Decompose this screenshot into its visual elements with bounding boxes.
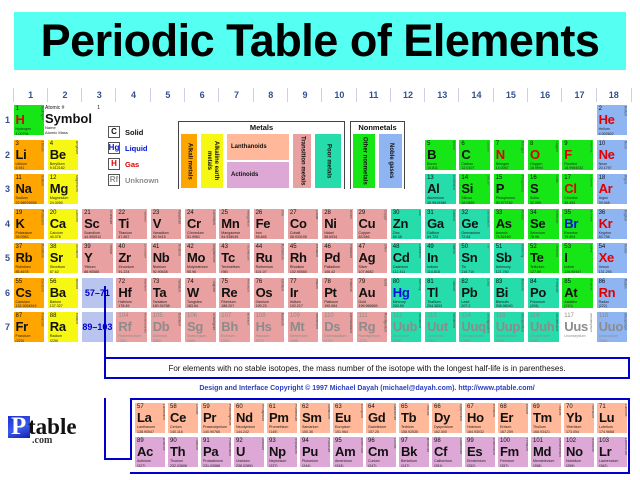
element-cell-cf[interactable]: 98CfCalifornium(251)Californium — [431, 436, 463, 468]
element-cell-br[interactable]: 35BrBromine79.904Bromine — [561, 208, 594, 240]
element-cell-np[interactable]: 93NpNeptunium(237)Neptunium — [266, 436, 298, 468]
element-atomic-number: 73 — [153, 279, 160, 285]
element-symbol: La — [137, 411, 152, 424]
legend-category-other-nonmetals[interactable]: Other nonmetals — [353, 134, 375, 188]
group-header-15: 15 — [493, 88, 528, 102]
element-name: Rhodium — [290, 265, 304, 269]
element-side-label: Gadolinium — [389, 404, 396, 434]
element-symbol: Ag — [359, 251, 376, 264]
element-name: Polonium — [530, 300, 545, 304]
element-cell-pa[interactable]: 91PaProtactinium231.03588Protactinium — [200, 436, 232, 468]
element-cell-uup[interactable]: 115UupUnunpentium(288)Ununpentium — [493, 311, 526, 343]
legend-category-label: Poor metals — [315, 134, 341, 188]
element-symbol: Ga — [427, 217, 444, 230]
element-atomic-mass: (237) — [269, 464, 277, 468]
legend-state-symbol-solid: C — [108, 126, 120, 138]
legend-state-label-liquid: Liquid — [125, 144, 148, 153]
element-cell-nd[interactable]: 60NdNeodymium144.242Neodymium — [233, 402, 265, 434]
legend-category-alkaline-earth-metals[interactable]: Alkaline earth metals — [201, 134, 223, 188]
element-side-label: Bromine — [585, 210, 592, 240]
element-cell-bk[interactable]: 97BkBerkelium(247)Berkelium — [398, 436, 430, 468]
element-side-label: Praseodymium — [224, 404, 231, 434]
element-name: Iron — [256, 231, 262, 235]
element-name: Cobalt — [290, 231, 300, 235]
element-side-label: Protactinium — [224, 438, 231, 468]
element-atomic-number: 9 — [564, 141, 567, 147]
element-cell-uuo[interactable]: 118UuoUnunoctium(294)Ununoctium — [596, 311, 629, 343]
element-symbol: Zn — [393, 217, 408, 230]
element-symbol: Nb — [153, 251, 170, 264]
element-cell-pd[interactable]: 46PdPalladium106.42Palladium — [321, 242, 354, 274]
element-side-label: Bohrium — [242, 313, 249, 343]
legend-state-liquid: HgLiquid — [108, 142, 148, 154]
element-atomic-mass: (262) — [599, 464, 607, 468]
element-symbol: Eu — [335, 411, 351, 424]
element-name: Carbon — [461, 162, 473, 166]
element-cell-ce[interactable]: 58CeCerium140.116Cerium — [167, 402, 199, 434]
legend-state-unknown: RfUnknown — [108, 174, 159, 186]
legend-category-alkali-metals[interactable]: Alkali metals — [181, 134, 197, 188]
element-symbol: Ge — [461, 217, 478, 230]
element-cell-fr[interactable]: 87FrFrancium(223)Francium — [13, 311, 46, 343]
element-symbol: Sg — [187, 320, 203, 333]
element-cell-ne[interactable]: 10NeNeon20.1797Neon — [596, 139, 629, 171]
element-cell-sc[interactable]: 21ScScandium44.955912Scandium — [81, 208, 114, 240]
element-symbol: Mo — [187, 251, 205, 264]
element-cell-he[interactable]: 2HeHelium4.002602Helium — [596, 104, 629, 136]
element-name: Nitrogen — [496, 162, 510, 166]
element-cell-uuh[interactable]: 116UuhUnunhexium(292)Ununhexium — [527, 311, 560, 343]
element-cell-uub[interactable]: 112UubUnunbium(285)Ununbium — [390, 311, 423, 343]
element-cell-as[interactable]: 33AsArsenic74.92160Arsenic — [493, 208, 526, 240]
element-cell-cu[interactable]: 29CuCopper63.546Copper — [356, 208, 389, 240]
element-cell-no[interactable]: 102NoNobelium(259)Nobelium — [563, 436, 595, 468]
element-cell-rb[interactable]: 37RbRubidium85.4678Rubidium — [13, 242, 46, 274]
element-name: Silver — [359, 265, 368, 269]
element-cell-o[interactable]: 8OOxygen15.9994Oxygen — [527, 139, 560, 171]
element-cell-pu[interactable]: 94PuPlutonium(244)Plutonium — [299, 436, 331, 468]
element-atomic-mass: 83.798 — [599, 235, 610, 239]
element-cell-pb[interactable]: 82PbLead207.2Lead — [458, 277, 491, 309]
element-atomic-number: 34 — [530, 210, 537, 216]
element-cell-k[interactable]: 19KPotassium39.0983Potassium — [13, 208, 46, 240]
element-side-label: Copper — [380, 210, 387, 240]
element-atomic-mass: (145) — [269, 430, 277, 434]
element-cell-th[interactable]: 90ThThorium232.03806Thorium — [167, 436, 199, 468]
element-symbol: Ta — [153, 286, 167, 299]
element-cell-ar[interactable]: 18ArArgon39.948Argon — [596, 173, 629, 205]
legend-category-lanthanoids[interactable]: Lanthanoids — [227, 134, 289, 160]
element-cell-se[interactable]: 34SeSelenium78.96Selenium — [527, 208, 560, 240]
element-cell-gd[interactable]: 64GdGadolinium157.25Gadolinium — [365, 402, 397, 434]
element-cell-re[interactable]: 75ReRhenium186.207Rhenium — [218, 277, 251, 309]
element-side-label: Niobium — [174, 244, 181, 274]
element-symbol: Se — [530, 217, 545, 230]
element-cell-cm[interactable]: 96CmCurium(247)Curium — [365, 436, 397, 468]
element-side-label: Chromium — [208, 210, 215, 240]
element-cell-na[interactable]: 11NaSodium22.98976928Sodium — [13, 173, 46, 205]
element-cell-pm[interactable]: 61PmPromethium(145)Promethium — [266, 402, 298, 434]
element-symbol: Lu — [599, 411, 614, 424]
element-atomic-mass: 208.98040 — [496, 304, 513, 308]
element-cell-s[interactable]: 16SSulfur32.065Sulfur — [527, 173, 560, 205]
element-symbol: Ti — [118, 217, 129, 230]
element-atomic-mass: (252) — [467, 464, 475, 468]
legend-state-label-gas: Gas — [125, 160, 139, 169]
element-side-label: Zirconium — [139, 244, 146, 274]
element-cell-sm[interactable]: 62SmSamarium150.36Samarium — [299, 402, 331, 434]
element-name: Xenon — [599, 265, 609, 269]
element-cell-es[interactable]: 99EsEinsteinium(252)Einsteinium — [464, 436, 496, 468]
element-cell-zn[interactable]: 30ZnZinc65.38Zinc — [390, 208, 423, 240]
element-side-label: Thallium — [448, 279, 455, 309]
element-cell-mn[interactable]: 25MnManganese54.938045Manganese — [218, 208, 251, 240]
element-cell-ir[interactable]: 77IrIridium192.217Iridium — [287, 277, 320, 309]
element-cell-kr[interactable]: 36KrKrypton83.798Krypton — [596, 208, 629, 240]
element-cell-au[interactable]: 79AuGold196.966569Gold — [356, 277, 389, 309]
legend-category-poor-metals[interactable]: Poor metals — [315, 134, 341, 188]
element-atomic-number: 31 — [427, 210, 434, 216]
element-cell-lr[interactable]: 103LrLawrencium(262)Lawrencium — [596, 436, 628, 468]
element-cell-y[interactable]: 39YYttrium88.90585Yttrium — [81, 242, 114, 274]
element-name: Antimony — [496, 265, 511, 269]
element-atomic-mass: 192.217 — [290, 304, 303, 308]
element-cell-ta[interactable]: 73TaTantalum180.94788Tantalum — [150, 277, 183, 309]
group-header-3: 3 — [81, 88, 116, 102]
element-name: Silicon — [461, 196, 472, 200]
element-name: Berkelium — [401, 459, 417, 463]
element-cell-uuq[interactable]: 114UuqUnunquadium(289)Ununquadium — [458, 311, 491, 343]
element-atomic-mass: (277) — [256, 339, 264, 343]
element-cell-tm[interactable]: 69TmThulium168.93421Thulium — [530, 402, 562, 434]
element-atomic-mass: 158.92535 — [401, 430, 418, 434]
element-cell-si[interactable]: 14SiSilicon28.0855Silicon — [458, 173, 491, 205]
element-cell-sn[interactable]: 50SnTin118.710Tin — [458, 242, 491, 274]
element-cell-yb[interactable]: 70YbYtterbium173.054Ytterbium — [563, 402, 595, 434]
element-atomic-number: 79 — [359, 279, 366, 285]
element-cell-mo[interactable]: 42MoMolybdenum95.96Molybdenum — [184, 242, 217, 274]
legend-category-label: Alkali metals — [181, 134, 197, 188]
element-name: Actinium — [137, 459, 151, 463]
element-cell-ge[interactable]: 32GeGermanium72.64Germanium — [458, 208, 491, 240]
element-name: Manganese — [221, 231, 240, 235]
element-side-label: Neon — [620, 141, 627, 171]
element-symbol: Fr — [16, 320, 28, 333]
element-cell-rg[interactable]: 111RgRoentgenium(272)Roentgenium — [356, 311, 389, 343]
element-side-label: Gallium — [448, 210, 455, 240]
element-name: Bohrium — [221, 334, 234, 338]
element-side-label: Hydrogen — [37, 106, 44, 136]
element-name: Iodine — [564, 265, 574, 269]
element-cell-rh[interactable]: 45RhRhodium102.90550Rhodium — [287, 242, 320, 274]
element-name: Bromine — [564, 231, 577, 235]
element-cell-w[interactable]: 74WTungsten183.84Tungsten — [184, 277, 217, 309]
element-symbol: Pd — [324, 251, 340, 264]
element-cell-ag[interactable]: 47AgSilver107.8682Silver — [356, 242, 389, 274]
element-cell-ac[interactable]: 89AcActinium(227)Actinium — [134, 436, 166, 468]
element-side-label: Rutherfordium — [139, 313, 146, 343]
element-cell-xe[interactable]: 54XeXenon131.293Xenon — [596, 242, 629, 274]
element-cell-n[interactable]: 7NNitrogen14.0067Nitrogen — [493, 139, 526, 171]
element-cell-la[interactable]: 57LaLanthanum138.90547Lanthanum — [134, 402, 166, 434]
element-cell-db[interactable]: 105DbDubnium(262)Dubnium — [150, 311, 183, 343]
element-cell-uut[interactable]: 113UutUnuntrium(284)Ununtrium — [424, 311, 457, 343]
element-cell-h[interactable]: 1HHydrogen1.00794Hydrogen — [13, 104, 46, 136]
element-atomic-mass: 183.84 — [187, 304, 198, 308]
element-cell-ds[interactable]: 110DsDarmstadtium(271)Darmstadtium — [321, 311, 354, 343]
element-name: Boron — [427, 162, 437, 166]
element-name: Palladium — [324, 265, 340, 269]
element-name: Beryllium — [50, 162, 65, 166]
element-atomic-mass: (262) — [153, 339, 161, 343]
element-symbol: Si — [461, 182, 473, 195]
element-symbol: Hf — [118, 286, 131, 299]
element-atomic-mass: 101.07 — [256, 270, 267, 274]
element-atomic-mass: (247) — [368, 464, 376, 468]
element-cell-eu[interactable]: 63EuEuropium151.964Europium — [332, 402, 364, 434]
element-cell-c[interactable]: 6CCarbon12.0107Carbon — [458, 139, 491, 171]
element-name: Aluminium — [427, 196, 444, 200]
element-cell-dy[interactable]: 66DyDysprosium162.500Dysprosium — [431, 402, 463, 434]
element-name: Europium — [335, 425, 350, 429]
element-name: Thallium — [427, 300, 441, 304]
element-cell-tc[interactable]: 43TcTechnetium(98)Technetium — [218, 242, 251, 274]
element-name: Neptunium — [269, 459, 286, 463]
placeholder-lanthanoid-range[interactable]: 57–71 — [81, 277, 114, 309]
element-name: Lawrencium — [599, 459, 618, 463]
element-atomic-number: 5 — [427, 141, 430, 147]
element-atomic-mass: 91.224 — [118, 270, 129, 274]
element-side-label: Aluminium — [448, 175, 455, 205]
element-cell-ru[interactable]: 44RuRuthenium101.07Ruthenium — [253, 242, 286, 274]
element-side-label: Selenium — [551, 210, 558, 240]
element-atomic-mass: 232.03806 — [170, 464, 187, 468]
element-atomic-mass: 180.94788 — [153, 304, 170, 308]
element-symbol: Nd — [236, 411, 253, 424]
element-cell-cs[interactable]: 55CsCaesium132.9054519Caesium — [13, 277, 46, 309]
element-symbol: Mg — [50, 182, 68, 195]
element-atomic-mass: 200.59 — [393, 304, 404, 308]
element-cell-b[interactable]: 5BBoron10.811Boron — [424, 139, 457, 171]
element-symbol: Ba — [50, 286, 66, 299]
element-symbol: Cu — [359, 217, 376, 230]
logo-p-letter: P — [11, 414, 26, 439]
element-symbol: Kr — [599, 217, 613, 230]
element-symbol: He — [599, 113, 615, 126]
footnote-box: For elements with no stable isotopes, th… — [104, 357, 630, 379]
period-label-3: 3 — [2, 184, 13, 194]
element-name: Gold — [359, 300, 367, 304]
legend-category-noble-gases[interactable]: Noble gases — [379, 134, 402, 188]
element-cell-po[interactable]: 84PoPolonium(209)Polonium — [527, 277, 560, 309]
element-cell-hf[interactable]: 72HfHafnium178.49Hafnium — [115, 277, 148, 309]
legend-metals-border-left — [178, 133, 179, 189]
element-name: Radium — [50, 334, 62, 338]
element-cell-mg[interactable]: 12MgMagnesium24.3050Magnesium — [47, 173, 80, 205]
element-cell-i[interactable]: 53IIodine126.90447Iodine — [561, 242, 594, 274]
element-cell-al[interactable]: 13AlAluminium26.9815386Aluminium — [424, 173, 457, 205]
element-atomic-mass: 50.9415 — [153, 235, 166, 239]
element-cell-ga[interactable]: 31GaGallium69.723Gallium — [424, 208, 457, 240]
element-cell-uus[interactable]: 117UusUnunseptiumUnunseptium — [561, 311, 594, 343]
element-name: Fluorine — [564, 162, 577, 166]
element-side-label: Terbium — [422, 404, 429, 434]
element-symbol: O — [530, 148, 540, 161]
element-cell-fe[interactable]: 26FeIron55.845Iron — [253, 208, 286, 240]
element-cell-pt[interactable]: 78PtPlatinum195.084Platinum — [321, 277, 354, 309]
element-cell-ni[interactable]: 28NiNickel58.6934Nickel — [321, 208, 354, 240]
element-symbol: Cm — [368, 445, 388, 458]
placeholder-actinoid-range[interactable]: 89–103 — [81, 311, 114, 343]
element-cell-rf[interactable]: 104RfRutherfordium(261)Rutherfordium — [115, 311, 148, 343]
element-cell-p[interactable]: 15PPhosphorus30.973762Phosphorus — [493, 173, 526, 205]
group-header-16: 16 — [527, 88, 562, 102]
element-side-label: Xenon — [620, 244, 627, 274]
element-symbol: P — [496, 182, 504, 195]
connector-line-left — [104, 286, 106, 359]
element-name: Tellurium — [530, 265, 544, 269]
period-label-1: 1 — [2, 115, 13, 125]
group-header-14: 14 — [458, 88, 493, 102]
element-symbol: Bh — [221, 320, 238, 333]
element-atomic-mass: 79.904 — [564, 235, 575, 239]
element-cell-os[interactable]: 76OsOsmium190.23Osmium — [253, 277, 286, 309]
element-symbol: Db — [153, 320, 170, 333]
element-cell-bh[interactable]: 107BhBohrium(264)Bohrium — [218, 311, 251, 343]
element-atomic-mass: 24.3050 — [50, 201, 63, 205]
element-side-label: Darmstadtium — [345, 313, 352, 343]
element-cell-pr[interactable]: 59PrPraseodymium140.90765Praseodymium — [200, 402, 232, 434]
element-atomic-mass: 174.9668 — [599, 430, 614, 434]
element-atomic-mass: 231.03588 — [203, 464, 220, 468]
element-side-label: Meitnerium — [311, 313, 318, 343]
element-cell-sg[interactable]: 106SgSeaborgium(266)Seaborgium — [184, 311, 217, 343]
element-cell-lu[interactable]: 71LuLutetium174.9668Lutetium — [596, 402, 628, 434]
element-cell-ho[interactable]: 67HoHolmium164.93032Holmium — [464, 402, 496, 434]
element-symbol: Al — [427, 182, 439, 195]
element-symbol: Tc — [221, 251, 235, 264]
element-cell-ca[interactable]: 20CaCalcium40.078Calcium — [47, 208, 80, 240]
legend-category-transition-metals[interactable]: Transition metals — [293, 134, 311, 188]
element-side-label: Osmium — [277, 279, 284, 309]
element-cell-md[interactable]: 101MdMendelevium(258)Mendelevium — [530, 436, 562, 468]
element-side-label: Oxygen — [551, 141, 558, 171]
legend-category-actinoids[interactable]: Actinoids — [227, 162, 289, 188]
element-cell-be[interactable]: 4BeBeryllium9.012182Beryllium — [47, 139, 80, 171]
element-cell-in[interactable]: 49InIndium114.818Indium — [424, 242, 457, 274]
element-cell-at[interactable]: 85AtAstatine(210)Astatine — [561, 277, 594, 309]
element-cell-li[interactable]: 3LiLithium6.941Lithium — [13, 139, 46, 171]
element-symbol: U — [236, 445, 245, 458]
element-atomic-mass: (227) — [137, 464, 145, 468]
element-cell-ba[interactable]: 56BaBarium137.327Barium — [47, 277, 80, 309]
element-cell-cl[interactable]: 17ClChlorine35.453Chlorine — [561, 173, 594, 205]
element-cell-mt[interactable]: 109MtMeitnerium(268)Meitnerium — [287, 311, 320, 343]
element-name: Osmium — [256, 300, 269, 304]
element-cell-tb[interactable]: 65TbTerbium158.92535Terbium — [398, 402, 430, 434]
element-cell-u[interactable]: 92UUranium238.02891Uranium — [233, 436, 265, 468]
element-side-label: Radon — [620, 279, 627, 309]
element-cell-tl[interactable]: 81TlThallium204.3833Thallium — [424, 277, 457, 309]
element-symbol: Mn — [221, 217, 239, 230]
element-cell-bi[interactable]: 83BiBismuth208.98040Bismuth — [493, 277, 526, 309]
element-symbol: Mt — [290, 320, 305, 333]
element-symbol: N — [496, 148, 505, 161]
element-name: Holmium — [467, 425, 481, 429]
element-cell-zr[interactable]: 40ZrZirconium91.224Zirconium — [115, 242, 148, 274]
element-cell-cd[interactable]: 48CdCadmium112.411Cadmium — [390, 242, 423, 274]
element-cell-rn[interactable]: 86RnRadon(222)Radon — [596, 277, 629, 309]
element-side-label: Tantalum — [174, 279, 181, 309]
element-atomic-mass: (243) — [335, 464, 343, 468]
element-symbol: Lr — [599, 445, 611, 458]
element-atomic-mass: 12.0107 — [461, 166, 474, 170]
element-cell-nb[interactable]: 41NbNiobium92.90638Niobium — [150, 242, 183, 274]
element-symbol: Sn — [461, 251, 477, 264]
element-symbol: Po — [530, 286, 546, 299]
element-cell-f[interactable]: 9FFluorine18.9984032Fluorine — [561, 139, 594, 171]
element-cell-hg[interactable]: 80HgMercury200.59Mercury — [390, 277, 423, 309]
element-side-label: Sulfur — [551, 175, 558, 205]
element-symbol: K — [16, 217, 25, 230]
legend-nonmetals-border-left — [350, 133, 351, 189]
element-side-label: Dubnium — [174, 313, 181, 343]
element-side-label: Holmium — [488, 404, 495, 434]
element-cell-sr[interactable]: 38SrStrontium87.62Strontium — [47, 242, 80, 274]
element-side-label: Chlorine — [585, 175, 592, 205]
element-name: Lithium — [16, 162, 28, 166]
element-cell-cr[interactable]: 24CrChromium51.9961Chromium — [184, 208, 217, 240]
element-side-label: Vanadium — [174, 210, 181, 240]
element-cell-fm[interactable]: 100FmFermium(257)Fermium — [497, 436, 529, 468]
element-atomic-mass: 107.8682 — [359, 270, 374, 274]
element-cell-hs[interactable]: 108HsHassium(277)Hassium — [253, 311, 286, 343]
element-atomic-mass: 140.90765 — [203, 430, 220, 434]
element-name: Curium — [368, 459, 380, 463]
element-name: Zinc — [393, 231, 400, 235]
element-cell-co[interactable]: 27CoCobalt58.933195Cobalt — [287, 208, 320, 240]
element-side-label: Calcium — [71, 210, 78, 240]
element-side-label: Lithium — [37, 141, 44, 171]
element-atomic-mass: (222) — [599, 304, 607, 308]
element-symbol: C — [461, 148, 470, 161]
element-side-label: Arsenic — [517, 210, 524, 240]
element-symbol: Hg — [393, 286, 410, 299]
element-atomic-number: 86 — [599, 279, 606, 285]
legend-state-symbol-gas: H — [108, 158, 120, 170]
legend-state-label-solid: Solid — [125, 128, 143, 137]
footnote-text: For elements with no stable isotopes, th… — [168, 364, 565, 373]
element-atomic-number: 7 — [496, 141, 499, 147]
element-cell-te[interactable]: 52TeTellurium127.60Tellurium — [527, 242, 560, 274]
element-cell-am[interactable]: 95AmAmericium(243)Americium — [332, 436, 364, 468]
element-cell-ra[interactable]: 88RaRadium(226)Radium — [47, 311, 80, 343]
element-side-label: Mendelevium — [554, 438, 561, 468]
element-atomic-mass: 6.941 — [16, 166, 25, 170]
element-cell-ti[interactable]: 22TiTitanium47.867Titanium — [115, 208, 148, 240]
element-symbol: Fm — [500, 445, 519, 458]
element-name: Ununoctium — [599, 334, 618, 338]
element-atomic-mass: (257) — [500, 464, 508, 468]
element-name: Terbium — [401, 425, 414, 429]
element-cell-sb[interactable]: 51SbAntimony121.760Antimony — [493, 242, 526, 274]
element-atomic-mass: (285) — [393, 339, 401, 343]
element-side-label: Samarium — [323, 404, 330, 434]
ptable-logo[interactable]: P table .com — [2, 412, 74, 454]
element-cell-er[interactable]: 68ErErbium167.259Erbium — [497, 402, 529, 434]
element-side-label: Thulium — [554, 404, 561, 434]
element-cell-v[interactable]: 23VVanadium50.9415Vanadium — [150, 208, 183, 240]
